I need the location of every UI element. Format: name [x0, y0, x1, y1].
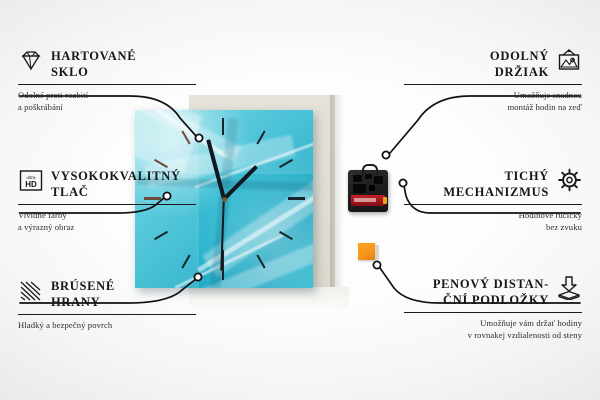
wall-frame-icon [556, 48, 582, 72]
divider [18, 314, 196, 315]
press-down-layers-icon [556, 276, 582, 300]
divider [404, 204, 582, 205]
feature-description: Odolné proti rozbití a poškrábání [18, 89, 196, 113]
feature-foam-spacers: PENOVÝ DISTAN- ČNÍ PODLOŽKY Umožňuje vám… [404, 276, 582, 341]
battery-label [354, 198, 376, 202]
feature-durable-holder: ODOLNÝ DRŽIAK Umožňuje snadnou montáž ho… [404, 48, 582, 113]
divider [404, 312, 582, 313]
ultra-hd-icon: ultra HD [18, 168, 44, 192]
feature-title: VYSOKOKVALITNÝ TLAČ [51, 168, 181, 200]
feature-description: Vividné farby a výrazný obraz [18, 209, 196, 233]
mechanism-detail [365, 174, 372, 179]
feature-description: Umožňuje vám držať hodiny v rovnakej vzd… [404, 317, 582, 341]
clock-tick [222, 118, 224, 135]
panel-floor [189, 287, 349, 309]
clock-center-hub [222, 197, 227, 202]
battery-terminal [383, 197, 387, 204]
divider [404, 84, 582, 85]
battery [351, 195, 385, 206]
feature-sanded-edges: BRÚSENÉ HRANY Hladký a bezpečný povrch [18, 278, 196, 331]
feature-tempered-glass: HARTOVANÉ SKLO Odolné proti rozbití a po… [18, 48, 196, 113]
clock-tick [288, 197, 305, 200]
mechanism-detail [353, 175, 362, 182]
divider [18, 204, 196, 205]
feature-title: BRÚSENÉ HRANY [51, 278, 115, 310]
feature-high-quality-print: ultra HD VYSOKOKVALITNÝ TLAČ Vividné far… [18, 168, 196, 233]
foam-pad-side [375, 245, 379, 260]
feature-title: TICHÝ MECHANIZMUS [443, 168, 549, 200]
hotspot-holder [382, 151, 389, 158]
feature-description: Hodinové ručičky bez zvuku [404, 209, 582, 233]
feature-title: HARTOVANÉ SKLO [51, 48, 136, 80]
infographic-canvas: HARTOVANÉ SKLO Odolné proti rozbití a po… [0, 0, 600, 400]
sanded-edge-icon [18, 278, 44, 302]
mechanism-detail [353, 184, 366, 193]
gear-icon [556, 168, 582, 192]
mechanism-detail [369, 185, 375, 191]
feature-title: PENOVÝ DISTAN- ČNÍ PODLOŽKY [433, 276, 549, 308]
feature-description: Umožňuje snadnou montáž hodin na zeď [404, 89, 582, 113]
svg-text:HD: HD [25, 180, 37, 189]
divider [18, 84, 196, 85]
feature-silent-mechanism: TICHÝ MECHANIZMUS Hodinové ručičky bez z… [404, 168, 582, 233]
feature-description: Hladký a bezpečný povrch [18, 319, 196, 331]
back-panel-shadow [330, 95, 344, 293]
diamond-icon [18, 48, 44, 72]
clock-mechanism [348, 170, 388, 212]
feature-title: ODOLNÝ DRŽIAK [490, 48, 549, 80]
mechanism-detail [374, 176, 383, 184]
foam-spacer-pad [358, 243, 375, 260]
hotspot-foam [373, 261, 380, 268]
